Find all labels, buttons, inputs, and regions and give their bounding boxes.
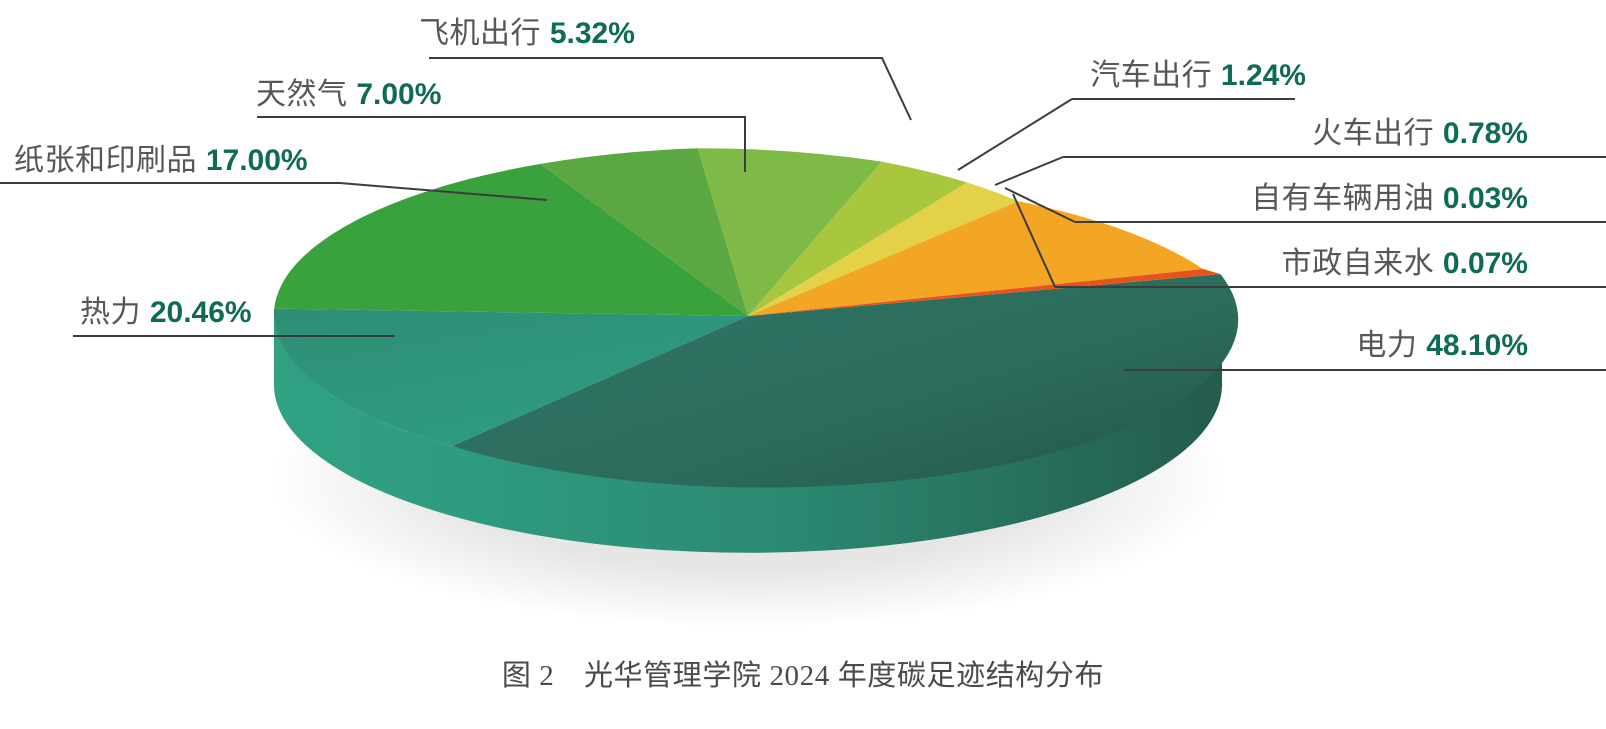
label-paper-name: 纸张和印刷品 [14,144,197,177]
label-vehicle-oil-pct: 0.03% [1443,182,1528,215]
label-plane-pct: 5.32% [550,17,635,50]
label-train: 火车出行 0.78% [1312,118,1528,150]
label-car-pct: 1.24% [1221,59,1306,92]
label-heat: 热力 20.46% [80,297,252,329]
label-heat-pct: 20.46% [150,296,252,329]
leader-train-hook [995,157,1063,185]
label-gas-pct: 7.00% [356,78,441,111]
label-paper-pct: 17.00% [206,144,308,177]
label-vehicle-oil-name: 自有车辆用油 [1251,182,1434,215]
pie-chart [0,0,1606,729]
label-paper: 纸张和印刷品 17.00% [14,145,308,177]
figure-caption: 图 2 光华管理学院 2024 年度碳足迹结构分布 [0,652,1606,694]
figure-root: 飞机出行 5.32% 天然气 7.00% 纸张和印刷品 17.00% 热力 20… [0,0,1606,729]
label-plane-name: 飞机出行 [419,17,541,50]
label-heat-name: 热力 [80,296,141,329]
label-gas-name: 天然气 [256,78,348,111]
label-tap-water-name: 市政自来水 [1282,247,1435,280]
label-tap-water: 市政自来水 0.07% [1282,248,1528,280]
label-car: 汽车出行 1.24% [1090,60,1306,92]
label-electricity-name: 电力 [1356,329,1417,362]
label-train-name: 火车出行 [1312,117,1434,150]
label-electricity-pct: 48.10% [1426,329,1528,362]
label-vehicle-oil: 自有车辆用油 0.03% [1251,183,1528,215]
label-electricity: 电力 48.10% [1356,330,1528,362]
label-tap-water-pct: 0.07% [1443,247,1528,280]
leader-plane [429,58,911,120]
label-car-name: 汽车出行 [1090,59,1212,92]
label-gas: 天然气 7.00% [256,79,441,111]
label-plane: 飞机出行 5.32% [419,18,635,50]
label-train-pct: 0.78% [1443,117,1528,150]
